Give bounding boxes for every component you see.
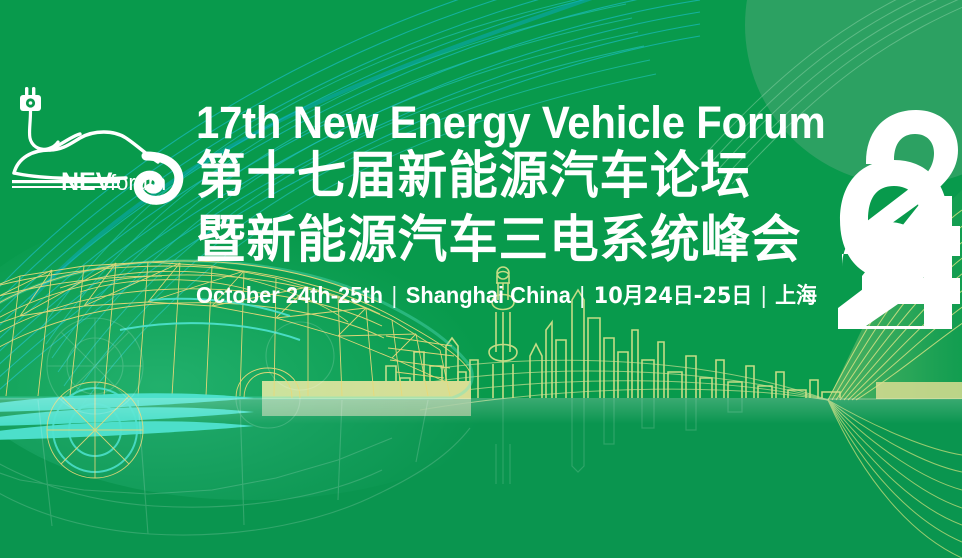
location-english: Shanghai China (406, 282, 571, 308)
nev-forum-logo[interactable]: NEV forum (6, 78, 186, 213)
location-chinese: 上海 (775, 284, 817, 309)
logo-wordmark-light: forum (110, 170, 166, 195)
headline-block: 17th New Energy Vehicle Forum 第十七届新能源汽车论… (196, 100, 836, 310)
event-details: October 24th-25th|Shanghai China|10月24日-… (196, 282, 804, 310)
separator-3: | (752, 282, 775, 308)
event-poster: NEV forum 17th New Energy Vehicle Forum … (0, 0, 962, 558)
date-english: October 24th-25th (196, 282, 383, 308)
chinese-title-line-2: 暨新能源汽车三电系统峰会 (196, 210, 817, 272)
year-badge (838, 104, 960, 329)
english-title: 17th New Energy Vehicle Forum (196, 100, 791, 146)
separator-2: | (571, 282, 594, 308)
logo-wordmark-bold: NEV (61, 168, 113, 196)
date-chinese: 10月24日-25日 (594, 284, 753, 309)
charging-cable-icon (29, 111, 58, 149)
separator-1: | (383, 282, 406, 308)
water-highlight (0, 398, 962, 424)
riverbank-bar-right (876, 382, 962, 399)
chinese-title-line-1: 第十七届新能源汽车论坛 (196, 146, 817, 208)
electric-plug-icon (20, 87, 41, 111)
